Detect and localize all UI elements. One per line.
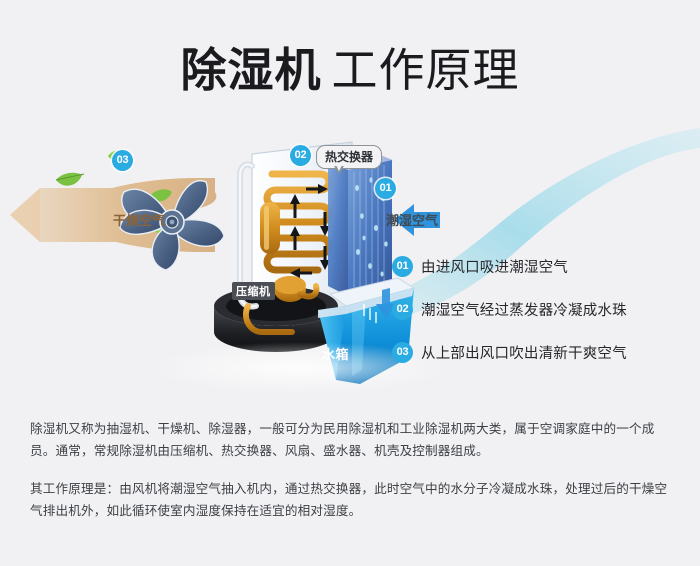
page-title: 除湿机工作原理 <box>0 34 700 100</box>
label-humid-air: 潮湿空气 <box>386 210 438 229</box>
badge-humid-air: 01 <box>375 178 396 199</box>
list-item: 02 潮湿空气经过蒸发器冷凝成水珠 <box>392 298 682 320</box>
step-badge-01: 01 <box>392 256 413 277</box>
paragraph-1: 除湿机又称为抽湿机、干燥机、除湿器，一般可分为民用除湿机和工业除湿机两大类，属于… <box>30 418 678 462</box>
step-text-03: 从上部出风口吹出清新干爽空气 <box>421 342 627 363</box>
label-water-tank: 水箱 <box>322 344 349 363</box>
evaporator-front-face <box>328 162 348 296</box>
list-item: 01 由进风口吸进潮湿空气 <box>392 255 682 277</box>
accumulator-highlight <box>264 206 269 250</box>
infographic-page: 除湿机工作原理 <box>0 0 700 566</box>
step-badge-02: 02 <box>392 299 413 320</box>
step-text-02: 潮湿空气经过蒸发器冷凝成水珠 <box>421 299 627 320</box>
step-badge-03: 03 <box>392 342 413 363</box>
description-block: 除湿机又称为抽湿机、干燥机、除湿器，一般可分为民用除湿机和工业除湿机两大类，属于… <box>30 418 678 522</box>
label-heat-exchanger: 热交换器 <box>316 145 382 169</box>
label-dry-air: 干燥空气 <box>113 210 165 229</box>
badge-dry-air: 03 <box>112 150 133 171</box>
page-title-bold: 除湿机 <box>181 43 322 97</box>
page-title-light: 工作原理 <box>332 43 520 97</box>
paragraph-2: 其工作原理是：由风机将潮湿空气抽入机内，通过热交换器，此时空气中的水分子冷凝成水… <box>30 478 678 522</box>
fan-hub-center <box>170 220 175 225</box>
label-compressor: 压缩机 <box>232 282 275 300</box>
list-item: 03 从上部出风口吹出清新干爽空气 <box>392 341 682 363</box>
callout-tail-inner <box>336 165 342 171</box>
steps-list: 01 由进风口吸进潮湿空气 02 潮湿空气经过蒸发器冷凝成水珠 03 从上部出风… <box>392 255 682 384</box>
dry-air-arrow-highlight <box>10 188 40 242</box>
step-text-01: 由进风口吸进潮湿空气 <box>421 256 568 277</box>
badge-heat-exchanger: 02 <box>290 145 311 166</box>
accumulator-body <box>260 202 280 254</box>
